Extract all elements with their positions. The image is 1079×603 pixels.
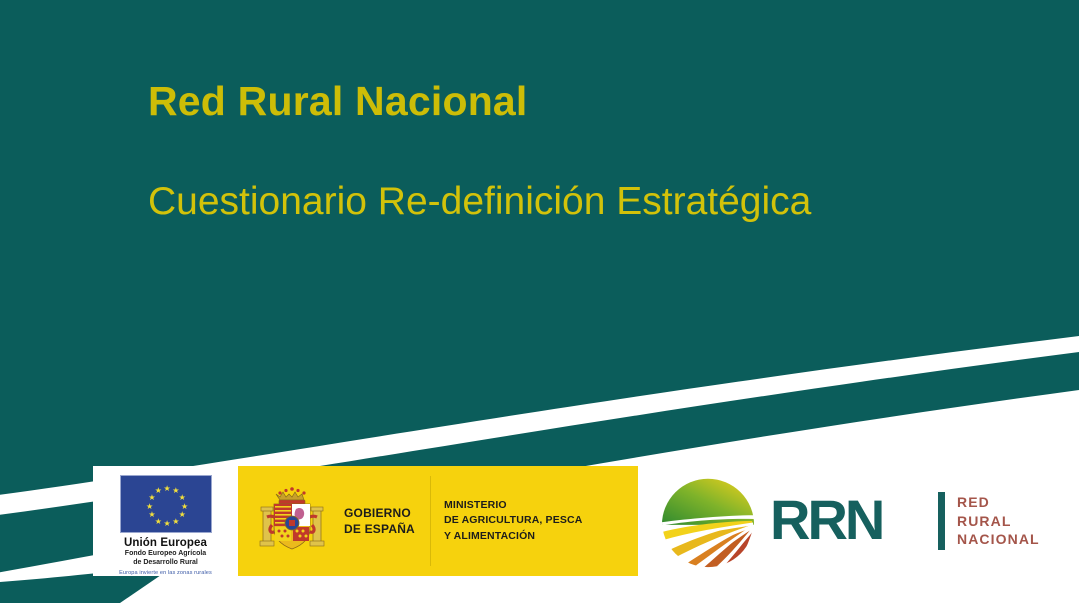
eu-star-icon: ★	[179, 512, 185, 518]
eu-star-icon: ★	[155, 488, 161, 494]
gobierno-de-espana-logo: GOBIERNO DE ESPAÑA MINISTERIO DE AGRICUL…	[238, 466, 638, 576]
rrn-emblem-icon	[660, 473, 756, 569]
rrn-sub-line-1: RED	[957, 493, 1040, 512]
logo-strip: ★★★★★★★★★★★★ Unión Europea Fondo Europeo…	[93, 466, 989, 576]
eu-star-icon: ★	[148, 512, 154, 518]
eu-logo: ★★★★★★★★★★★★ Unión Europea Fondo Europeo…	[93, 466, 238, 576]
eu-star-icon: ★	[164, 486, 170, 492]
eu-fund-line-1: Fondo Europeo Agrícola	[125, 550, 206, 559]
eu-star-icon: ★	[164, 521, 170, 527]
eu-star-icon: ★	[155, 519, 161, 525]
title-block: Red Rural Nacional Cuestionario Re-defin…	[148, 78, 1008, 225]
ministry-line-3: Y ALIMENTACIÓN	[444, 529, 583, 544]
rrn-acronym-wordmark: RRN	[770, 493, 920, 549]
eu-star-icon: ★	[172, 519, 178, 525]
ministry-text: MINISTERIO DE AGRICULTURA, PESCA Y ALIME…	[444, 498, 583, 544]
ministry-line-1: MINISTERIO	[444, 498, 583, 513]
slide-title: Red Rural Nacional	[148, 78, 1008, 125]
gobierno-divider	[430, 476, 431, 566]
rrn-sub-line-2: RURAL	[957, 512, 1040, 531]
gobierno-line-2: DE ESPAÑA	[344, 521, 415, 537]
eu-star-icon: ★	[179, 495, 185, 501]
rrn-logo: RRN RED RURAL NACIONAL	[648, 466, 989, 576]
eu-fund-line-2: de Desarrollo Rural	[133, 559, 198, 568]
eu-star-icon: ★	[172, 488, 178, 494]
spanish-coat-of-arms-icon	[254, 483, 330, 559]
eu-logo-name: Unión Europea	[124, 537, 207, 549]
rrn-sub-line-3: NACIONAL	[957, 530, 1040, 549]
eu-star-icon: ★	[148, 495, 154, 501]
eu-flag-icon: ★★★★★★★★★★★★	[120, 475, 212, 533]
slide-subtitle: Cuestionario Re-definición Estratégica	[148, 180, 1008, 225]
eu-star-icon: ★	[146, 504, 152, 510]
eu-star-icon: ★	[181, 504, 187, 510]
presentation-slide: Red Rural Nacional Cuestionario Re-defin…	[0, 0, 1079, 603]
gobierno-line-1: GOBIERNO	[344, 505, 415, 521]
gobierno-text: GOBIERNO DE ESPAÑA	[344, 505, 415, 537]
rrn-divider-bar	[938, 492, 945, 550]
eu-tagline: Europa invierte en las zonas rurales	[119, 570, 212, 576]
rrn-subtitle: RED RURAL NACIONAL	[957, 493, 1040, 550]
rrn-acronym-text: RRN	[770, 493, 882, 549]
ministry-line-2: DE AGRICULTURA, PESCA	[444, 513, 583, 528]
